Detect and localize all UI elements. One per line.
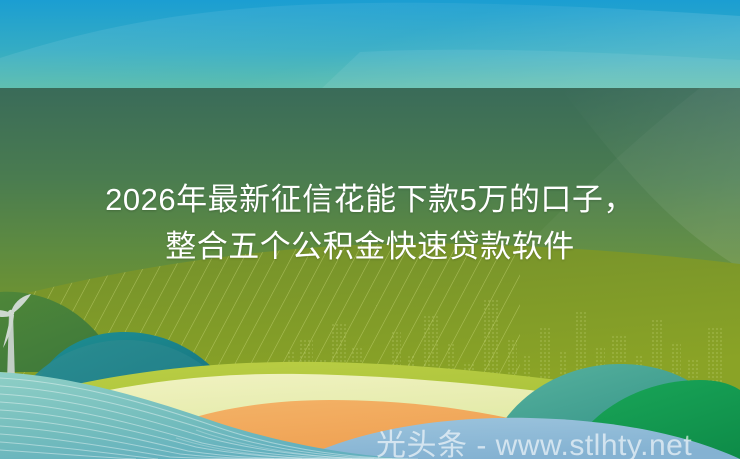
background-artwork [0, 0, 740, 459]
poster-image: 2026年最新征信花能下款5万的口子， 整合五个公积金快速贷款软件 光头条 - … [0, 0, 740, 459]
